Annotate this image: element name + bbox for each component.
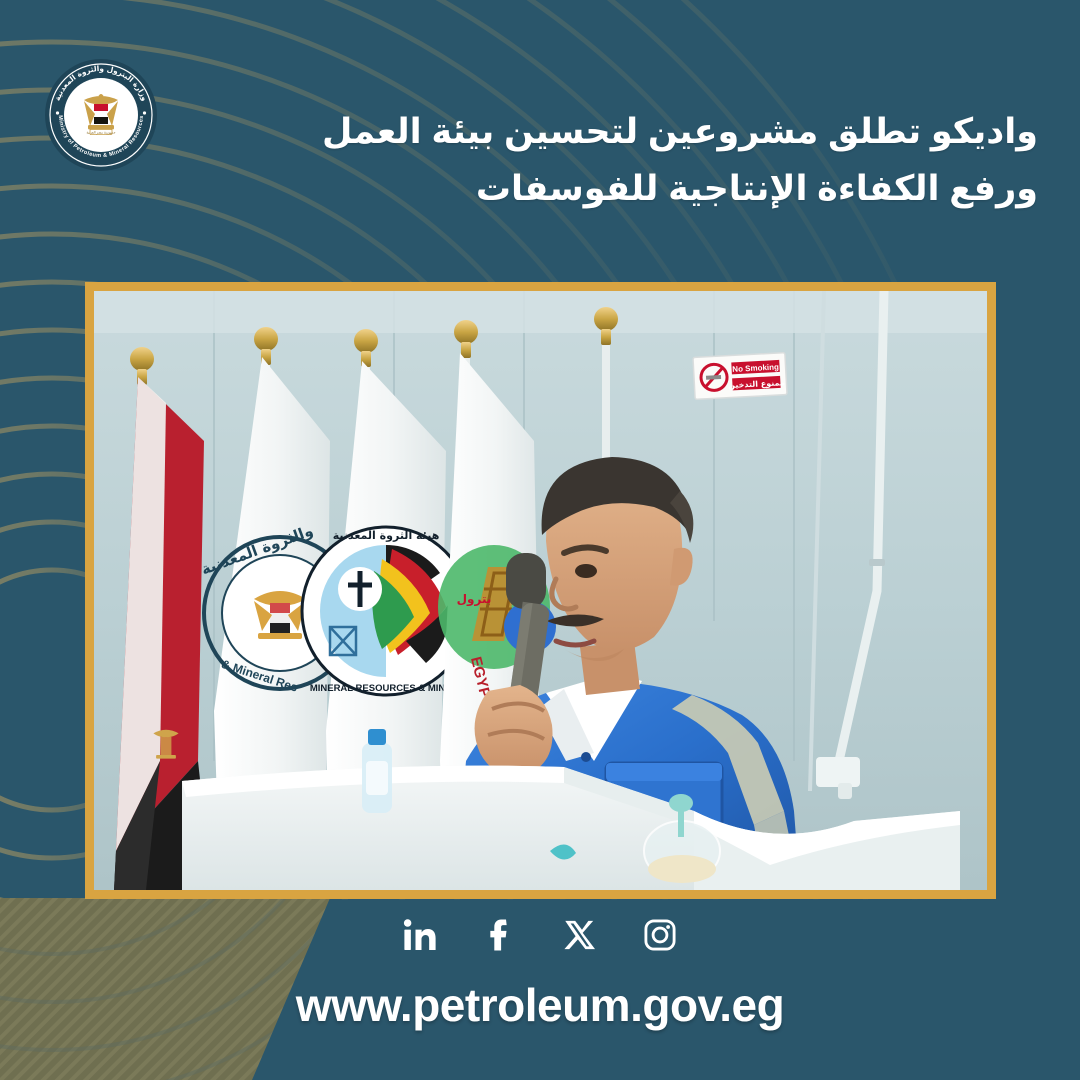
instagram-icon[interactable] <box>633 908 687 962</box>
facebook-icon[interactable] <box>473 908 527 962</box>
svg-text:جمهورية مصر العربية: جمهورية مصر العربية <box>87 131 116 135</box>
svg-text:بترول: بترول <box>457 592 492 607</box>
linkedin-icon[interactable] <box>393 908 447 962</box>
svg-text:MINERAL RESOURCES & MINING: MINERAL RESOURCES & MINING <box>310 683 462 694</box>
x-icon[interactable] <box>553 908 607 962</box>
headline-line-1: واديكو تطلق مشروعين لتحسين بيئة العمل <box>358 104 1038 161</box>
social-post-card: وزارة البترول والثروة المعدنية Ministry … <box>0 0 1080 1080</box>
website-url[interactable]: www.petroleum.gov.eg <box>0 978 1080 1032</box>
page-title: واديكو تطلق مشروعين لتحسين بيئة العمل ور… <box>358 104 1038 217</box>
no-smoking-sign: No Smoking ممنوع التدخين <box>693 353 787 400</box>
ministry-seal: وزارة البترول والثروة المعدنية Ministry … <box>44 58 158 172</box>
svg-text:هيئة الثروة المعدنية: هيئة الثروة المعدنية <box>333 529 440 542</box>
photo-frame: No Smoking ممنوع التدخين <box>85 282 996 899</box>
event-photo: No Smoking ممنوع التدخين <box>94 291 987 890</box>
headline-line-2: ورفع الكفاءة الإنتاجية للفوسفات <box>358 161 1038 218</box>
social-links[interactable] <box>0 908 1080 962</box>
